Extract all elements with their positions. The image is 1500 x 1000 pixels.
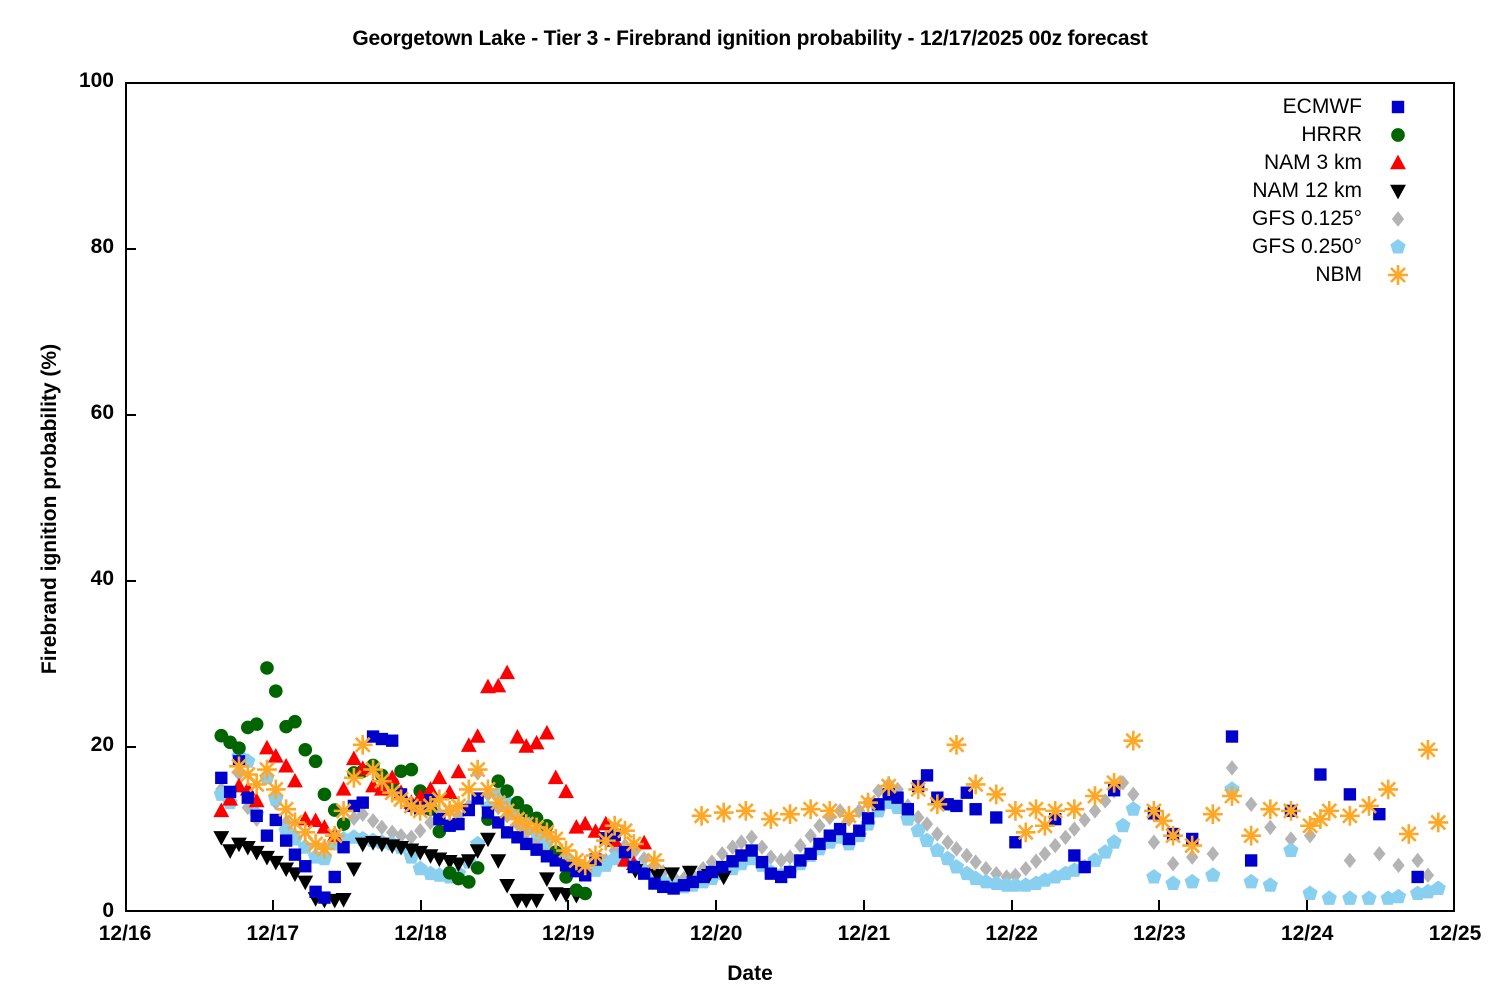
legend-label: NAM 3 km	[1264, 151, 1362, 175]
y-axis-title: Firebrand ignition probability (%)	[38, 199, 62, 819]
x-tick-mark	[567, 900, 569, 912]
series-gfs-0-125	[215, 760, 1434, 886]
x-tick-mark	[715, 900, 717, 912]
x-tick-mark	[863, 900, 865, 912]
legend-label: GFS 0.250°	[1252, 235, 1362, 259]
x-tick-mark	[1158, 900, 1160, 912]
legend-item-gfs-0-250[interactable]: GFS 0.250°	[1130, 233, 1420, 261]
legend-asterisk-icon	[1376, 264, 1420, 286]
x-tick-label: 12/16	[45, 922, 205, 946]
legend-item-ecmwf[interactable]: ECMWF	[1130, 93, 1420, 121]
legend-item-nam-3-km[interactable]: NAM 3 km	[1130, 149, 1420, 177]
legend-item-nbm[interactable]: NBM	[1130, 261, 1420, 289]
y-tick-mark	[125, 746, 136, 748]
x-tick-label: 12/23	[1079, 922, 1239, 946]
y-tick-mark	[125, 248, 136, 250]
legend-square-icon	[1376, 96, 1420, 118]
y-tick-label: 100	[0, 69, 114, 93]
x-tick-mark	[272, 900, 274, 912]
legend-circle-icon	[1376, 124, 1420, 146]
y-tick-mark	[125, 580, 136, 582]
legend-label: NBM	[1315, 263, 1362, 287]
legend-triangle-up-icon	[1376, 152, 1420, 174]
scatter-chart: Georgetown Lake - Tier 3 - Firebrand ign…	[0, 0, 1500, 1000]
legend-label: NAM 12 km	[1252, 179, 1362, 203]
legend-item-nam-12-km[interactable]: NAM 12 km	[1130, 177, 1420, 205]
x-tick-label: 12/18	[341, 922, 501, 946]
x-tick-label: 12/24	[1227, 922, 1387, 946]
legend-diamond-icon	[1376, 208, 1420, 230]
legend-label: HRRR	[1301, 123, 1362, 147]
x-axis-title: Date	[0, 962, 1500, 986]
series-ecmwf	[215, 730, 1424, 903]
y-tick-mark	[125, 414, 136, 416]
x-tick-label: 12/17	[193, 922, 353, 946]
x-tick-label: 12/20	[636, 922, 796, 946]
x-tick-label: 12/19	[488, 922, 648, 946]
chart-title: Georgetown Lake - Tier 3 - Firebrand ign…	[0, 27, 1500, 51]
x-tick-mark	[1011, 900, 1013, 912]
x-tick-mark	[420, 900, 422, 912]
x-tick-label: 12/25	[1375, 922, 1500, 946]
legend-item-hrrr[interactable]: HRRR	[1130, 121, 1420, 149]
y-tick-label: 0	[0, 899, 114, 923]
legend-triangle-down-icon	[1376, 180, 1420, 202]
legend-pentagon-icon	[1376, 236, 1420, 258]
x-tick-label: 12/21	[784, 922, 944, 946]
x-tick-label: 12/22	[932, 922, 1092, 946]
legend-item-gfs-0-125[interactable]: GFS 0.125°	[1130, 205, 1420, 233]
x-tick-mark	[1306, 900, 1308, 912]
legend-label: GFS 0.125°	[1252, 207, 1362, 231]
legend-label: ECMWF	[1283, 95, 1362, 119]
legend: ECMWFHRRRNAM 3 kmNAM 12 kmGFS 0.125°GFS …	[1130, 93, 1420, 289]
